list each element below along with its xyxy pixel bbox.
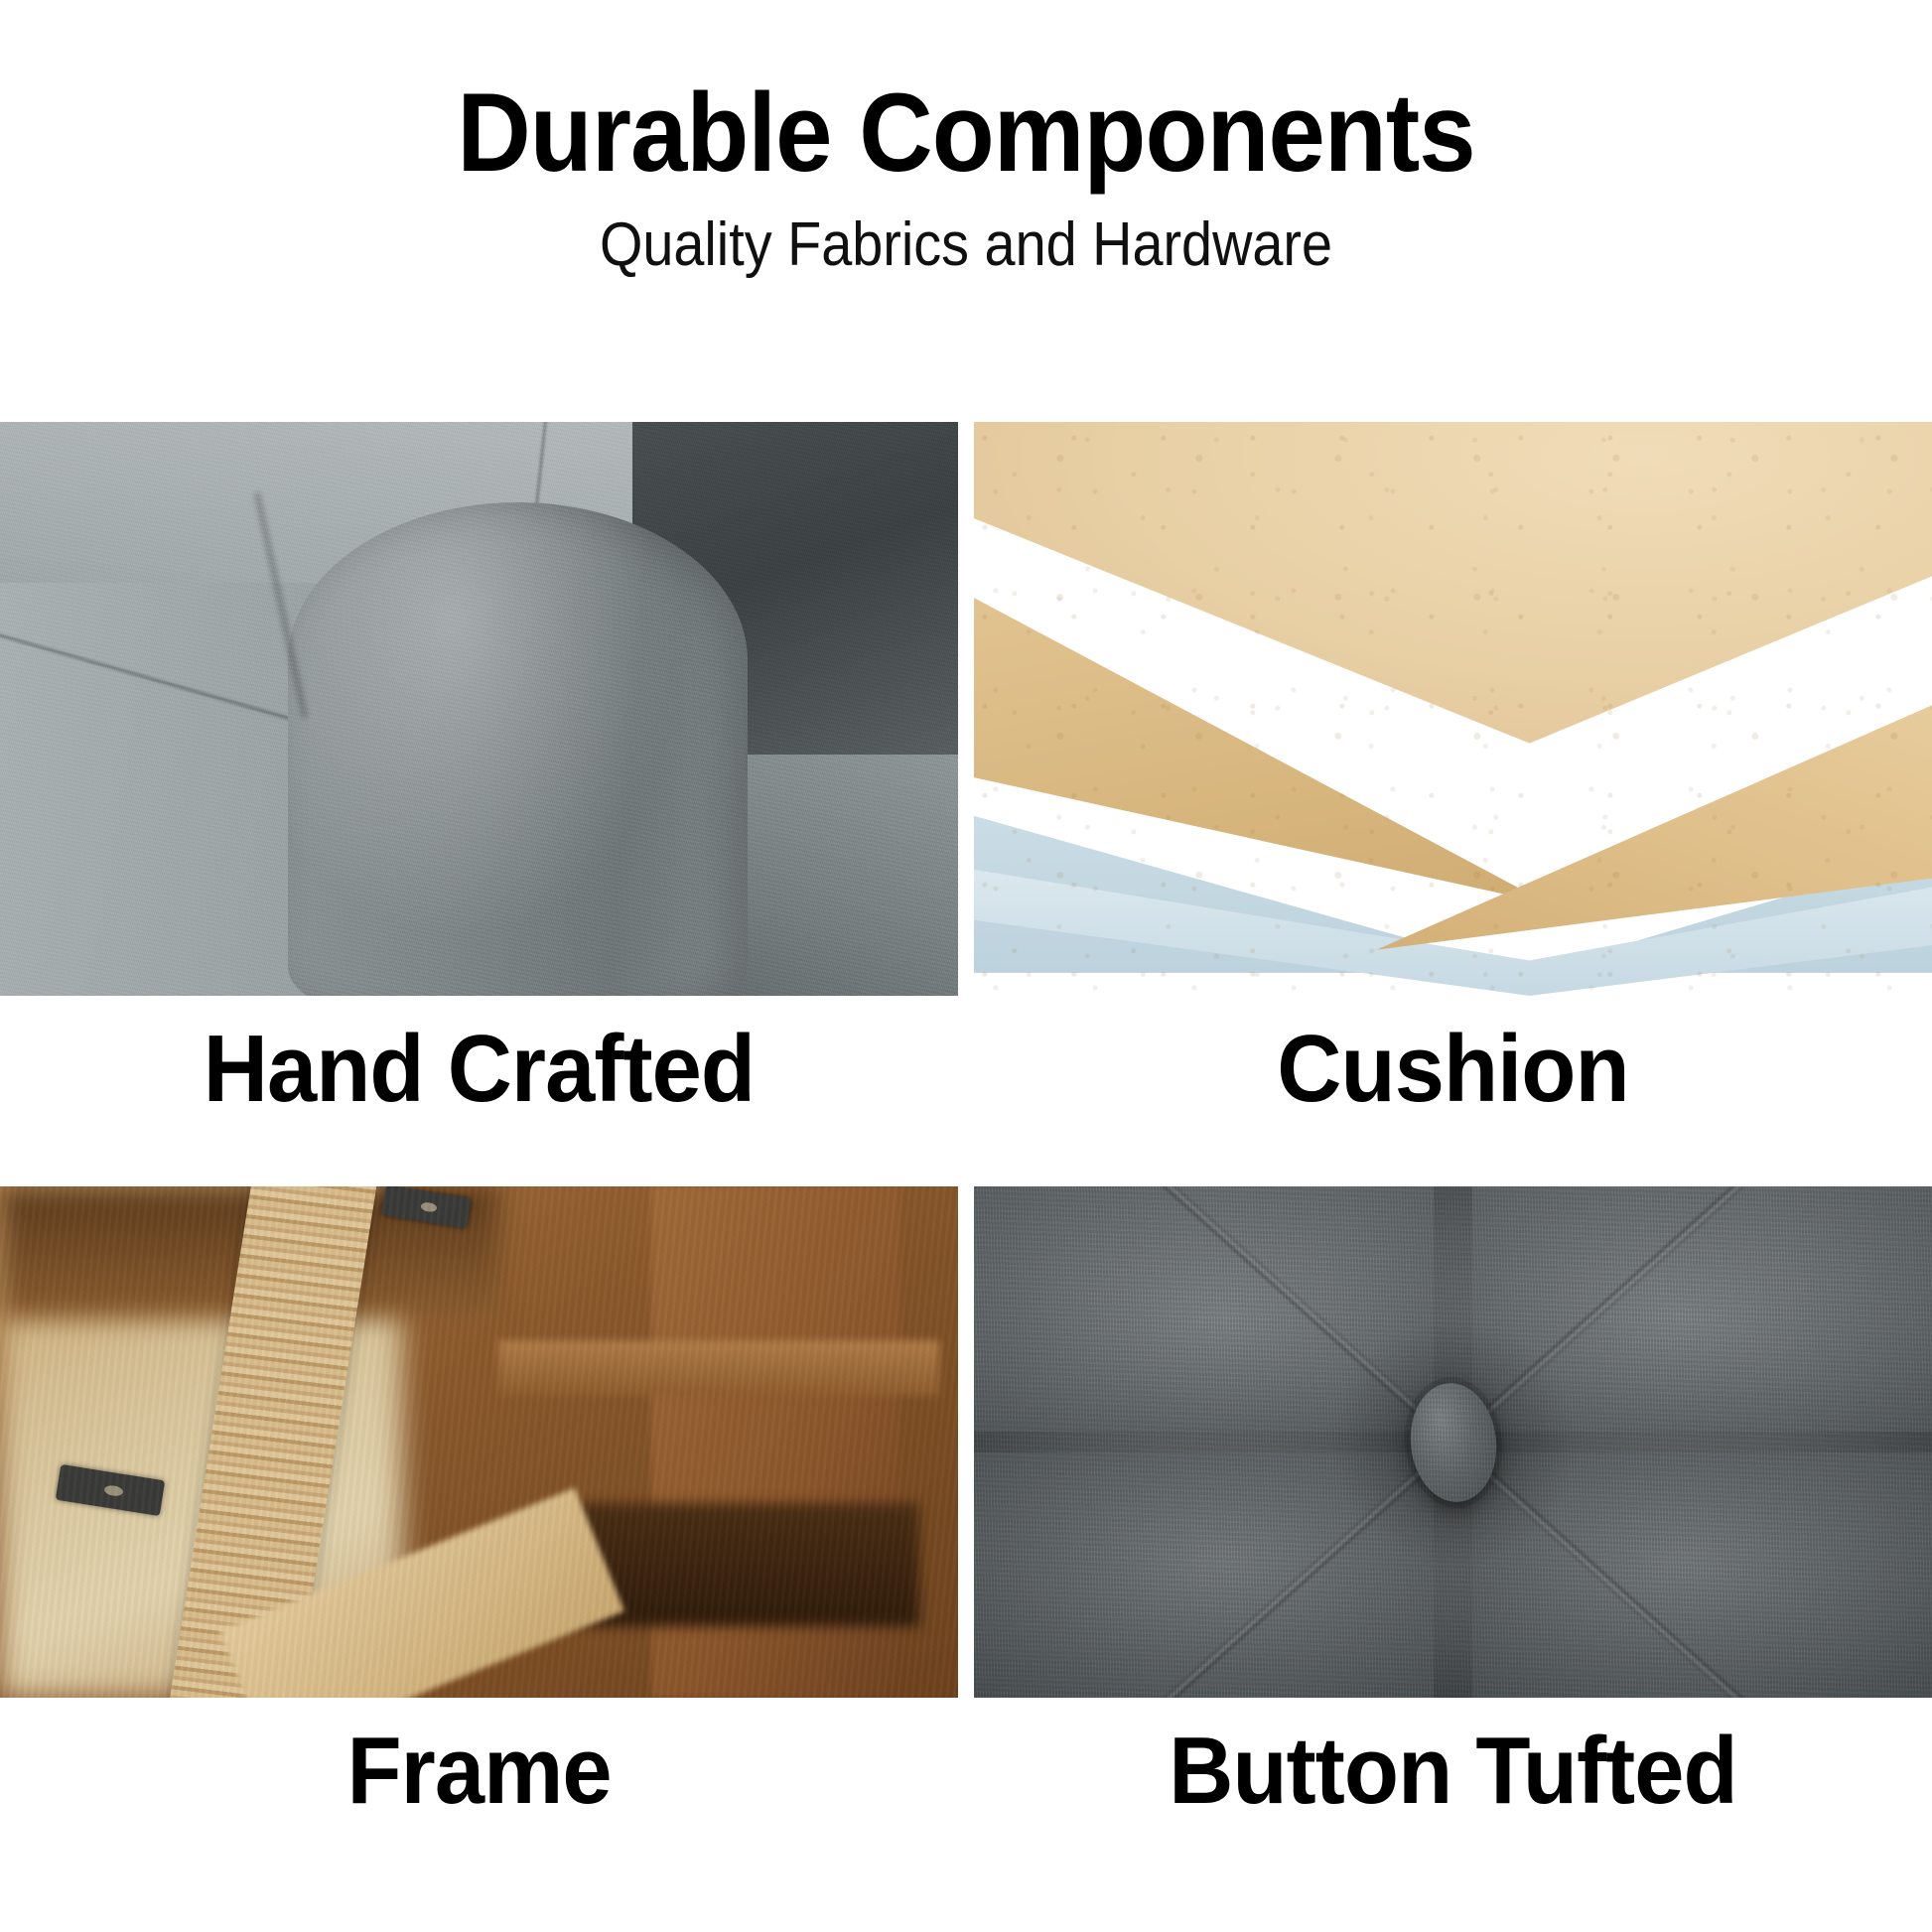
panel-caption-frame: Frame (0, 1698, 958, 1886)
velvet-texture-overlay (974, 1186, 1932, 1698)
feature-grid: Hand Crafted Cushion (0, 422, 1932, 1871)
infographic-page: Durable Components Quality Fabrics and H… (0, 0, 1932, 1932)
foam-cushion-photo (974, 422, 1932, 996)
panel-image-button-tufted (974, 1186, 1932, 1698)
wood-frame-photo (0, 1186, 958, 1698)
button-tufted-photo (974, 1186, 1932, 1698)
header: Durable Components Quality Fabrics and H… (0, 0, 1932, 276)
velvet-texture-overlay (0, 422, 958, 996)
wood-grain-texture (0, 1186, 958, 1698)
page-title: Durable Components (77, 77, 1855, 189)
panel-image-cushion (974, 422, 1932, 996)
sofa-arm-photo (0, 422, 958, 996)
panel-label: Button Tufted (1169, 1724, 1736, 1819)
panel-label: Frame (346, 1724, 611, 1819)
panel-label: Hand Crafted (204, 1022, 755, 1117)
page-subtitle: Quality Fabrics and Hardware (96, 214, 1835, 276)
panel-caption-button-tufted: Button Tufted (974, 1698, 1932, 1886)
panel-label: Cushion (1277, 1022, 1628, 1117)
panel-caption-cushion: Cushion (974, 996, 1932, 1186)
panel-image-hand-crafted (0, 422, 958, 996)
panel-caption-hand-crafted: Hand Crafted (0, 996, 958, 1186)
foam-pore-texture (974, 422, 1932, 996)
panel-image-frame (0, 1186, 958, 1698)
